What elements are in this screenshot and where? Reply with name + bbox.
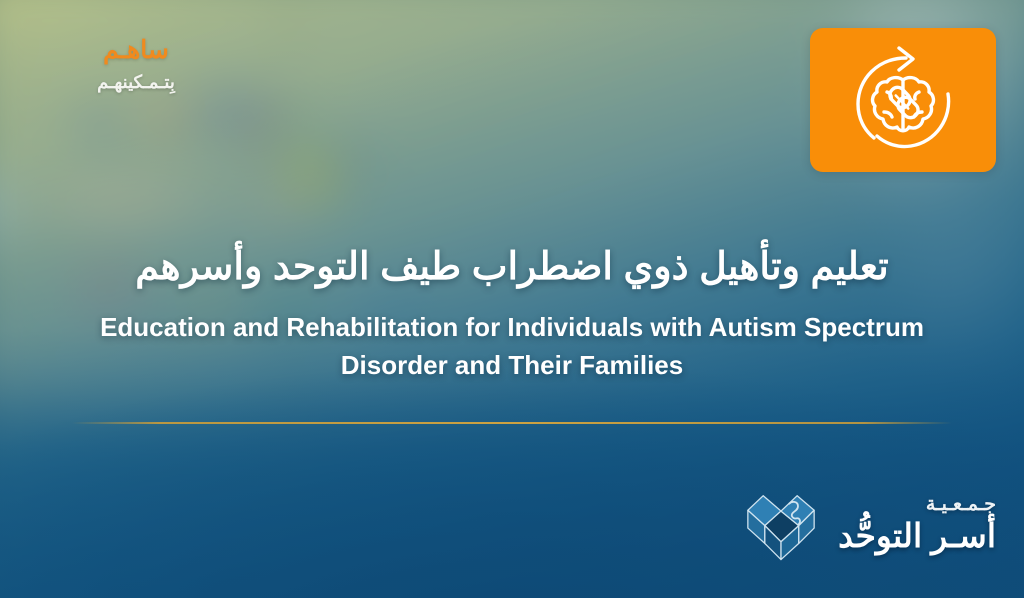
headline-english: Education and Rehabilitation for Individ…: [47, 308, 977, 385]
slogan-line-primary: ساهـم: [46, 36, 226, 65]
association-name: جـمـعـيـة أسـر التوحُّد: [838, 495, 996, 554]
headline-arabic: تعليم وتأهيل ذوي اضطراب طيف التوحد وأسره…: [36, 244, 988, 292]
autism-awareness-banner: ساهـم بِتـمـكينهـم: [0, 0, 1024, 598]
divider-rule: [72, 422, 952, 424]
brain-rehabilitation-icon: [844, 44, 962, 156]
association-logo: جـمـعـيـة أسـر التوحُّد: [742, 486, 996, 562]
slogan-block: ساهـم بِتـمـكينهـم: [46, 36, 226, 92]
association-name-main: أسـر التوحُّد: [838, 519, 996, 554]
puzzle-heart-icon: [742, 486, 820, 562]
association-name-prefix: جـمـعـيـة: [838, 495, 996, 515]
title-block: تعليم وتأهيل ذوي اضطراب طيف التوحد وأسره…: [0, 244, 1024, 384]
slogan-line-secondary: بِتـمـكينهـم: [46, 72, 226, 93]
topic-badge: [810, 28, 996, 172]
